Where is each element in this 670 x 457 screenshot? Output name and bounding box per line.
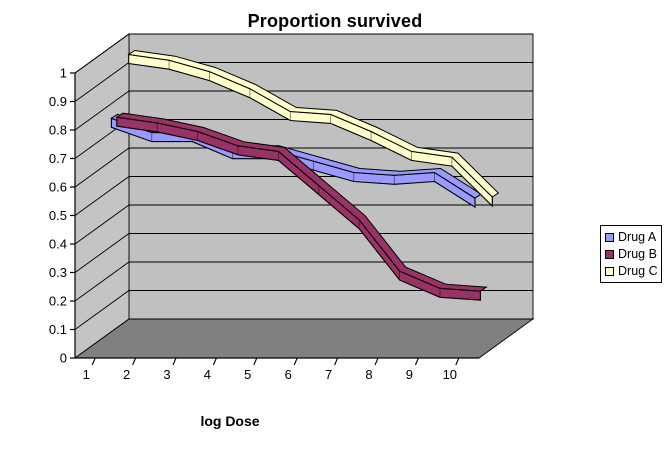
y-axis-tick-label: 0 xyxy=(60,351,67,366)
x-axis-tick-label: 5 xyxy=(244,367,251,382)
chart-plot-area: 00.10.20.30.40.50.60.70.80.9112345678910 xyxy=(0,0,670,457)
legend-item-drug-c: Drug C xyxy=(605,263,658,280)
legend-swatch-drug-a xyxy=(605,233,614,242)
legend-item-drug-b: Drug B xyxy=(605,246,658,263)
x-axis-tick-label: 9 xyxy=(406,367,413,382)
y-axis-tick-label: 0.2 xyxy=(49,294,67,309)
y-axis-tick-label: 0.8 xyxy=(49,123,67,138)
x-axis-title: log Dose xyxy=(150,413,310,429)
y-axis-tick-label: 0.4 xyxy=(49,237,67,252)
chart-legend: Drug A Drug B Drug C xyxy=(600,225,662,283)
x-axis-tick-label: 3 xyxy=(163,367,170,382)
y-axis-tick-label: 0.1 xyxy=(49,322,67,337)
legend-label-drug-a: Drug A xyxy=(618,231,656,244)
x-axis-tick-label: 10 xyxy=(443,367,457,382)
y-axis-tick-label: 0.6 xyxy=(49,180,67,195)
x-axis-tick-label: 4 xyxy=(204,367,211,382)
x-axis-tick-label: 6 xyxy=(285,367,292,382)
y-axis-tick-label: 0.3 xyxy=(49,265,67,280)
chart-container: Proportion survived 00.10.20.30.40.50.60… xyxy=(0,0,670,457)
x-axis-tick-label: 2 xyxy=(123,367,130,382)
y-axis-tick-label: 0.5 xyxy=(49,208,67,223)
y-axis-tick-label: 0.7 xyxy=(49,151,67,166)
legend-item-drug-a: Drug A xyxy=(605,229,658,246)
x-axis-tick-label: 7 xyxy=(325,367,332,382)
x-axis-tick-label: 1 xyxy=(83,367,90,382)
y-axis-tick-label: 1 xyxy=(60,66,67,81)
y-axis-tick-label: 0.9 xyxy=(49,94,67,109)
legend-label-drug-c: Drug C xyxy=(618,265,658,278)
legend-swatch-drug-b xyxy=(605,250,614,259)
x-axis-tick-label: 8 xyxy=(365,367,372,382)
legend-swatch-drug-c xyxy=(605,267,614,276)
legend-label-drug-b: Drug B xyxy=(618,248,657,261)
